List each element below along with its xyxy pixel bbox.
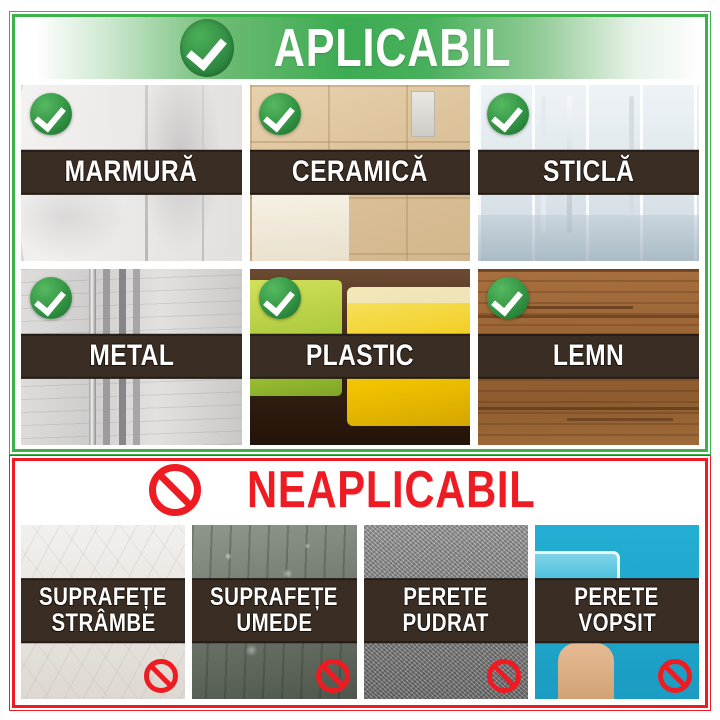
surface-tile-suprafete-strambe[interactable]: SUPRAFEȚE STRÂMBE [21, 525, 185, 699]
infographic-page: APLICABIL MARMURĂ CERAMICĂ [0, 0, 720, 720]
surface-label-bar: SUPRAFEȚE STRÂMBE [21, 578, 185, 643]
surface-label-bar: PLASTIC [250, 334, 471, 379]
surface-tile-ceramica[interactable]: CERAMICĂ [250, 85, 471, 261]
check-circle-icon [180, 19, 234, 77]
surface-label-line1: PERETE [403, 585, 487, 611]
surface-tile-lemn[interactable]: LEMN [478, 269, 699, 445]
surface-label: CERAMICĂ [292, 157, 428, 188]
surface-label-bar: METAL [21, 334, 242, 379]
surface-tile-metal[interactable]: METAL [21, 269, 242, 445]
surface-label-line1: PERETE [575, 585, 659, 611]
no-entry-icon [658, 659, 692, 693]
no-entry-icon [487, 659, 521, 693]
applicable-panel: APLICABIL MARMURĂ CERAMICĂ [12, 14, 708, 452]
surface-label-bar: STICLĂ [478, 150, 699, 195]
surface-label-line2: UMEDE [236, 611, 312, 637]
surface-tile-suprafete-umede[interactable]: SUPRAFEȚE UMEDE [192, 525, 356, 699]
surface-label-bar: PERETE PUDRAT [364, 578, 528, 643]
surface-label-bar: PERETE VOPSIT [535, 578, 699, 643]
surface-label-line1: SUPRAFEȚE [39, 585, 167, 611]
surface-tile-sticla[interactable]: STICLĂ [478, 85, 699, 261]
no-entry-icon [149, 464, 201, 516]
no-entry-icon [144, 659, 178, 693]
surface-label-line2: VOPSIT [578, 611, 656, 637]
surface-label-bar: CERAMICĂ [250, 150, 471, 195]
surface-label: LEMN [553, 341, 624, 372]
surface-label: PLASTIC [306, 341, 414, 372]
surface-tile-perete-pudrat[interactable]: PERETE PUDRAT [364, 525, 528, 699]
not-applicable-header: NEAPLICABIL [15, 461, 705, 519]
surface-label-bar: SUPRAFEȚE UMEDE [192, 578, 356, 643]
check-circle-icon [259, 93, 301, 135]
applicable-grid: MARMURĂ CERAMICĂ STICLĂ [15, 79, 705, 451]
check-circle-icon [30, 93, 72, 135]
check-circle-icon [259, 277, 301, 319]
surface-label: STICLĂ [543, 157, 634, 188]
surface-tile-marmura[interactable]: MARMURĂ [21, 85, 242, 261]
not-applicable-panel: NEAPLICABIL SUPRAFEȚE STRÂMBE SUPRAFEȚE … [12, 458, 708, 708]
surface-label-line1: SUPRAFEȚE [210, 585, 338, 611]
no-entry-icon [316, 659, 350, 693]
surface-label-bar: LEMN [478, 334, 699, 379]
surface-label-bar: MARMURĂ [21, 150, 242, 195]
surface-label-line2: PUDRAT [402, 611, 488, 637]
applicable-title: APLICABIL [273, 21, 511, 75]
not-applicable-title: NEAPLICABIL [247, 464, 535, 516]
check-circle-icon [30, 277, 72, 319]
surface-tile-perete-vopsit[interactable]: PERETE VOPSIT [535, 525, 699, 699]
not-applicable-grid: SUPRAFEȚE STRÂMBE SUPRAFEȚE UMEDE PERETE… [15, 519, 705, 705]
surface-tile-plastic[interactable]: PLASTIC [250, 269, 471, 445]
surface-label: METAL [89, 341, 174, 372]
surface-label: MARMURĂ [65, 157, 198, 188]
surface-label-line2: STRÂMBE [51, 611, 155, 637]
applicable-header: APLICABIL [15, 17, 705, 79]
